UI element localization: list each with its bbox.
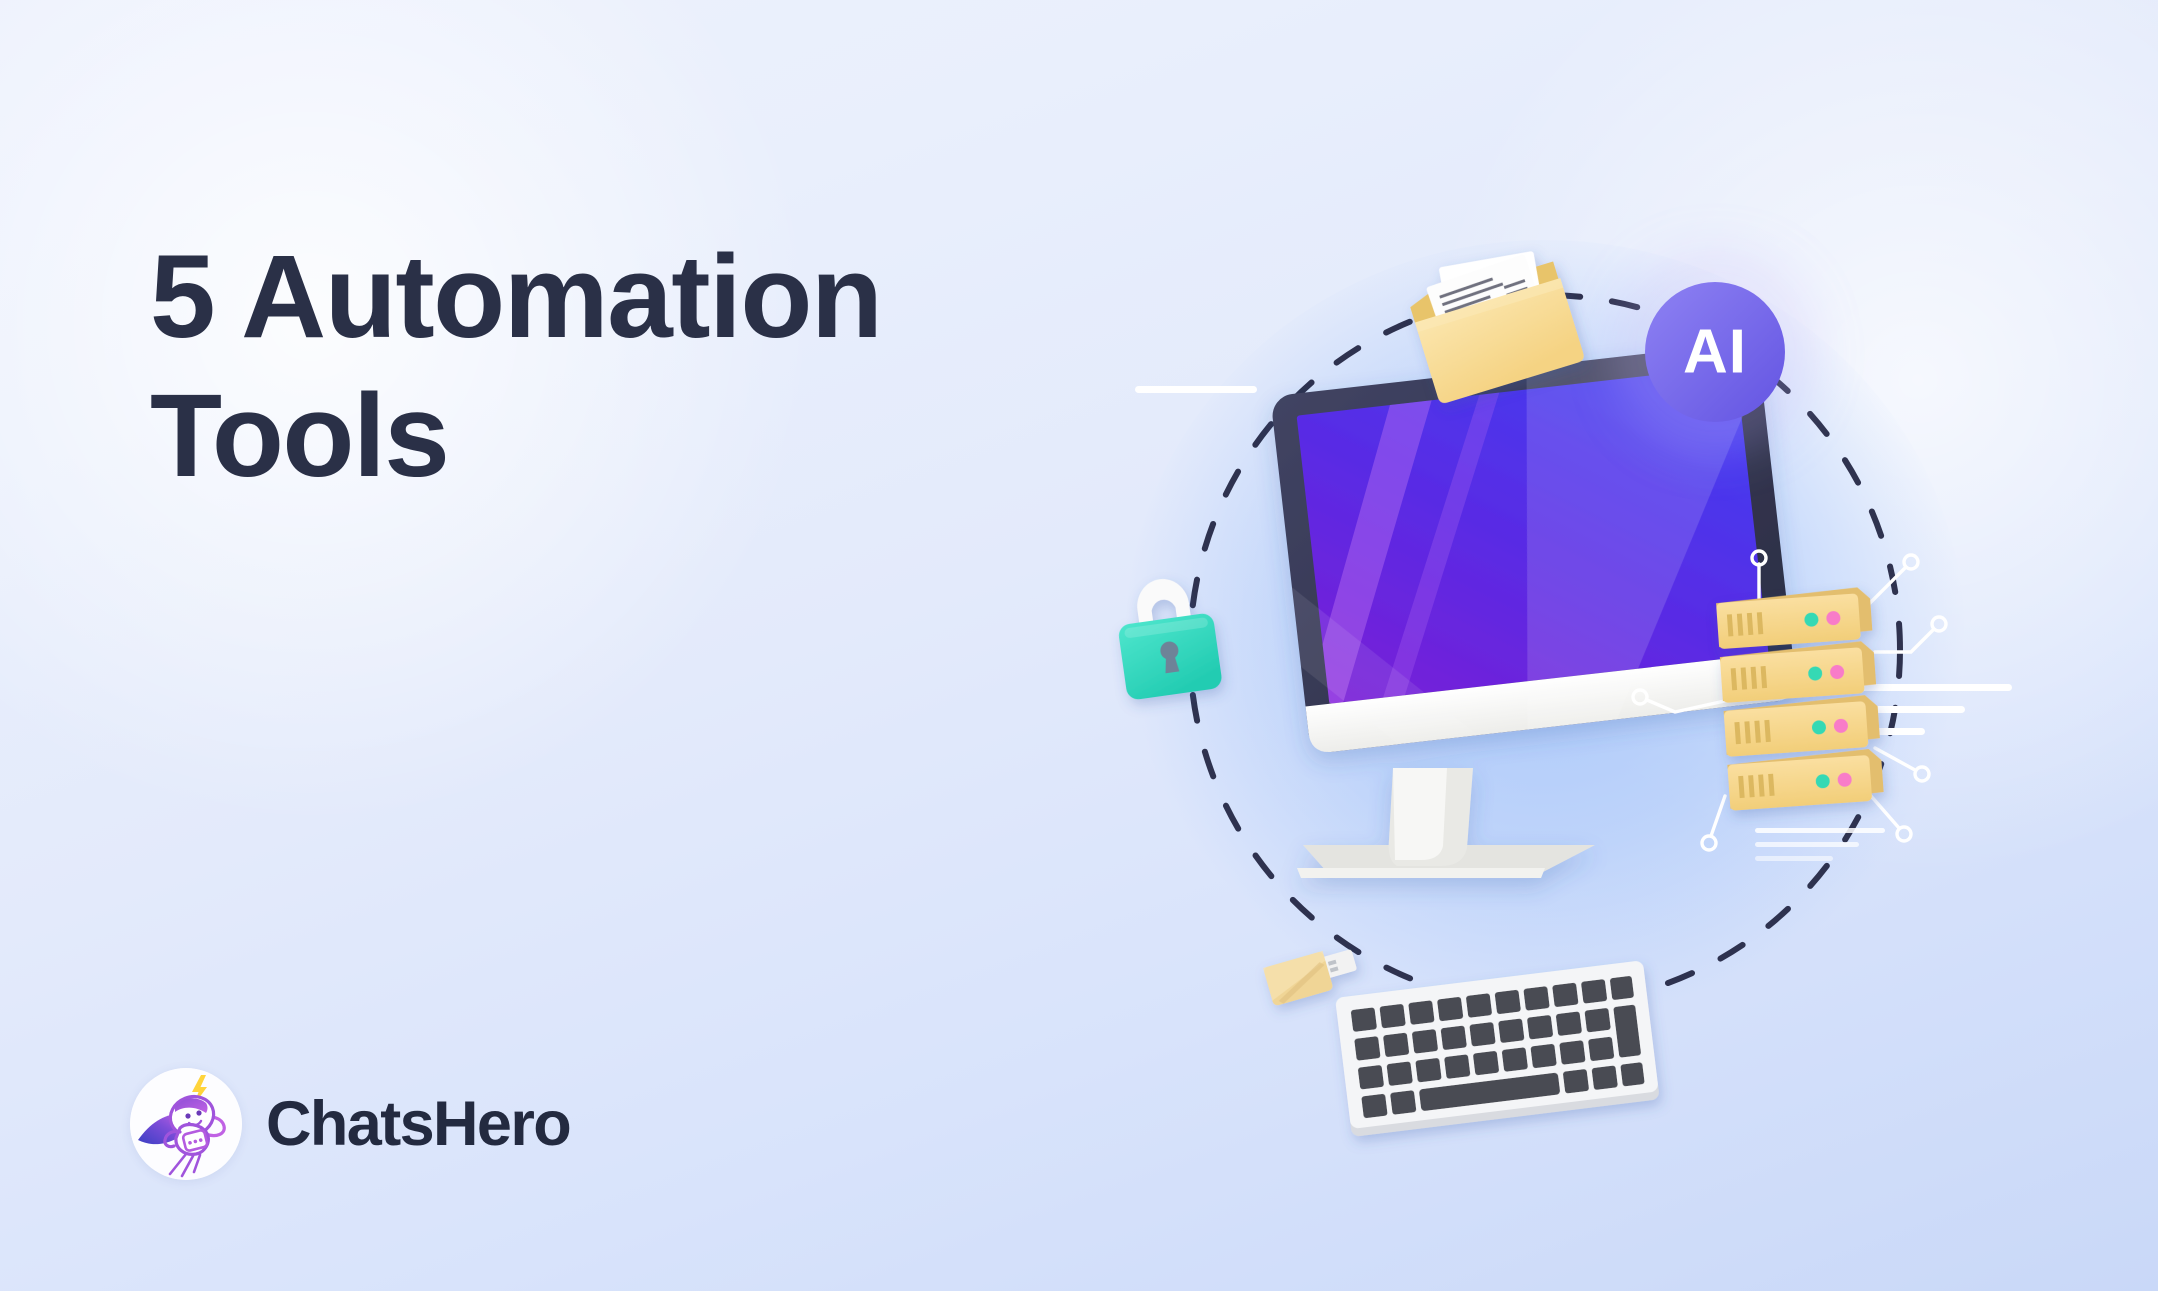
slide-canvas: 5 Automation Tools	[0, 0, 2158, 1291]
automation-tech-illustration: AI	[1075, 200, 2035, 1140]
brand-logo-lockup: ChatsHero	[130, 1068, 570, 1180]
ai-badge: AI	[1615, 252, 1815, 452]
brand-wordmark: ChatsHero	[266, 1093, 570, 1156]
ai-badge-label: AI	[1683, 318, 1747, 387]
speed-line-left	[1135, 386, 1257, 393]
page-title: 5 Automation Tools	[150, 228, 980, 506]
chatshero-mascot-icon	[130, 1068, 242, 1180]
